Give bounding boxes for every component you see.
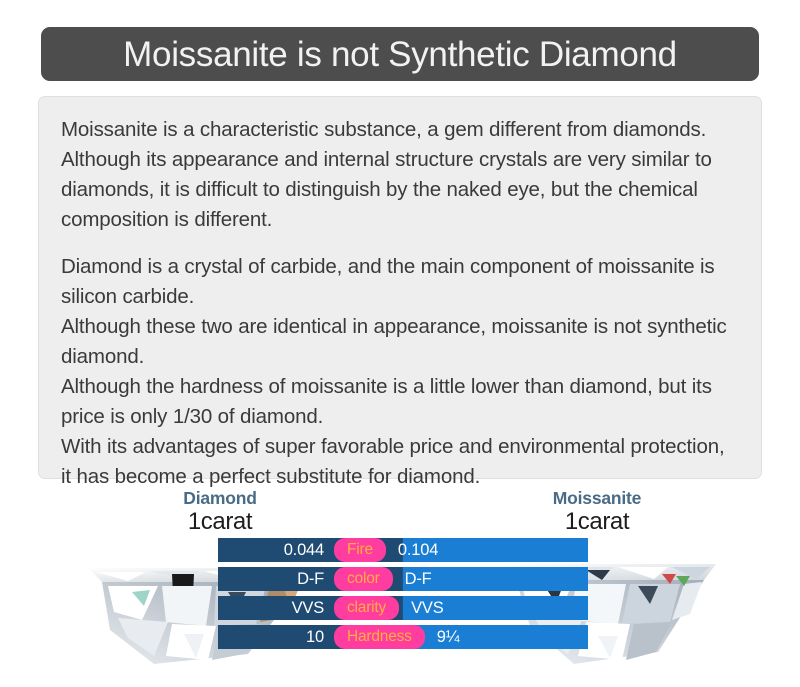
description-paragraph-2: Diamond is a crystal of carbide, and the… <box>61 252 739 312</box>
row-left-value: 0.044 <box>218 542 334 559</box>
row-right-value: 9¼ <box>425 629 555 646</box>
row-property-pill: Hardness <box>334 625 425 650</box>
table-row: VVS clarity VVS <box>218 596 588 620</box>
row-property-pill: color <box>334 567 393 592</box>
description-paragraph-4: Although the hardness of moissanite is a… <box>61 372 739 432</box>
description-card: Moissanite is a characteristic substance… <box>38 96 762 479</box>
row-right-value: D-F <box>393 571 523 588</box>
row-right-value: 0.104 <box>386 542 516 559</box>
comparison-table: 0.044 Fire 0.104 D-F color D-F VVS clari… <box>218 538 588 649</box>
comparison-caption-left: Diamond 1carat <box>110 488 330 536</box>
table-row: 0.044 Fire 0.104 <box>218 538 588 562</box>
description-paragraph-1: Moissanite is a characteristic substance… <box>61 115 739 235</box>
row-right-value: VVS <box>399 600 529 617</box>
table-row: 10 Hardness 9¼ <box>218 625 588 649</box>
page-title-banner: Moissanite is not Synthetic Diamond <box>41 27 759 81</box>
page-title: Moissanite is not Synthetic Diamond <box>123 37 677 72</box>
row-property-pill: clarity <box>334 596 399 621</box>
description-paragraph-3: Although these two are identical in appe… <box>61 312 739 372</box>
row-left-value: 10 <box>218 629 334 646</box>
row-left-value: VVS <box>218 600 334 617</box>
left-gem-carat: 1carat <box>110 508 330 536</box>
comparison-caption-right: Moissanite 1carat <box>487 488 707 536</box>
row-property-pill: Fire <box>334 538 386 563</box>
row-left-value: D-F <box>218 571 334 588</box>
description-paragraph-5: With its advantages of super favorable p… <box>61 432 739 492</box>
comparison-section: Diamond 1carat Moissanite 1carat <box>0 486 800 687</box>
left-gem-name: Diamond <box>110 488 330 508</box>
right-gem-name: Moissanite <box>487 488 707 508</box>
table-row: D-F color D-F <box>218 567 588 591</box>
right-gem-carat: 1carat <box>487 508 707 536</box>
